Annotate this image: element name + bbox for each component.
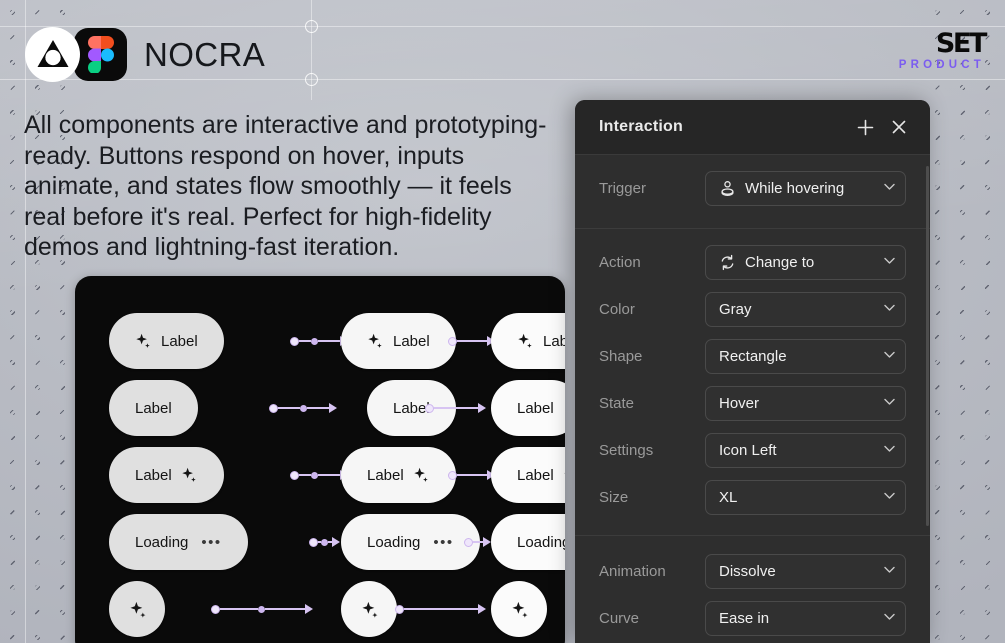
- interaction-panel-header: Interaction: [575, 100, 930, 155]
- partner-logo-primary: SET: [896, 30, 985, 57]
- row-label-state: State: [599, 395, 705, 412]
- connector-node[interactable]: [290, 337, 299, 346]
- sparkle-icon: [181, 467, 198, 484]
- connector-arrow: [332, 537, 340, 547]
- component-row: [75, 580, 565, 638]
- select-size-value: XL: [719, 489, 875, 506]
- close-icon[interactable]: [886, 114, 912, 140]
- button-label: Label: [367, 467, 404, 484]
- row-label-shape: Shape: [599, 348, 705, 365]
- select-shape-value: Rectangle: [719, 348, 875, 365]
- hatch-pattern-left: [0, 0, 75, 643]
- connector-arrow: [483, 537, 491, 547]
- chevron-down-icon: [884, 492, 895, 503]
- connector-node[interactable]: [290, 471, 299, 480]
- trigger-section: Trigger While hovering: [575, 155, 930, 226]
- component-row: Label Label: [75, 446, 565, 504]
- row-settings: Settings Icon Left: [575, 427, 930, 474]
- select-color-value: Gray: [719, 301, 875, 318]
- button-label: Label: [543, 333, 565, 350]
- connector-wire: [299, 340, 311, 342]
- button-icon-left-hover[interactable]: Label: [341, 313, 456, 369]
- button-icon-right-hover[interactable]: Label: [341, 447, 456, 503]
- row-label-action: Action: [599, 254, 705, 271]
- icon-button-hover[interactable]: [341, 581, 397, 637]
- select-settings[interactable]: Icon Left: [705, 433, 906, 468]
- select-settings-value: Icon Left: [719, 442, 875, 459]
- partner-logo: SET PRODUCT: [896, 30, 985, 72]
- grid-guide-vertical: [25, 0, 26, 643]
- button-label: Loading: [135, 534, 188, 551]
- chevron-down-icon: [884, 398, 895, 409]
- select-state[interactable]: Hover: [705, 386, 906, 421]
- hatch-pattern-right: [925, 0, 1005, 643]
- row-label-trigger: Trigger: [599, 180, 705, 197]
- chevron-down-icon: [884, 304, 895, 315]
- chevron-down-icon: [884, 445, 895, 456]
- connector-wire: [318, 474, 340, 476]
- button-loading-default[interactable]: Loading •••: [109, 514, 248, 570]
- chevron-down-icon: [884, 183, 895, 194]
- connector-arrow: [478, 604, 486, 614]
- action-section: Action Change to: [575, 229, 930, 533]
- connector: [425, 401, 486, 415]
- button-label: Loading: [367, 534, 420, 551]
- connector-midpoint[interactable]: [321, 539, 328, 546]
- row-color: Color Gray: [575, 286, 930, 333]
- connector-wire: [265, 608, 305, 610]
- button-label: Label: [161, 333, 198, 350]
- sparkle-icon: [129, 601, 146, 618]
- row-label-settings: Settings: [599, 442, 705, 459]
- select-curve-value: Ease in: [719, 610, 875, 627]
- brand-name: NOCRA: [144, 36, 265, 74]
- select-shape[interactable]: Rectangle: [705, 339, 906, 374]
- connector-midpoint[interactable]: [311, 472, 318, 479]
- brand-block: NOCRA: [25, 27, 265, 82]
- select-color[interactable]: Gray: [705, 292, 906, 327]
- select-state-value: Hover: [719, 395, 875, 412]
- select-trigger-value: While hovering: [745, 180, 875, 197]
- connector-wire: [434, 407, 478, 409]
- chevron-down-icon: [884, 566, 895, 577]
- button-label: Label: [517, 467, 554, 484]
- select-animation-value: Dissolve: [719, 563, 875, 580]
- animation-section: Animation Dissolve Curve Ease in: [575, 536, 930, 643]
- row-action: Action Change to: [575, 239, 930, 286]
- button-label: Loading: [517, 534, 565, 551]
- row-trigger: Trigger While hovering: [575, 165, 930, 212]
- sparkle-icon: [135, 333, 152, 350]
- connector: [464, 535, 491, 549]
- connector-node[interactable]: [425, 404, 434, 413]
- connector-wire: [318, 340, 340, 342]
- button-loading-hover[interactable]: Loading •••: [341, 514, 480, 570]
- sparkle-icon: [563, 467, 565, 484]
- button-label: Label: [135, 467, 172, 484]
- sparkle-icon: [361, 601, 378, 618]
- connector-midpoint[interactable]: [258, 606, 265, 613]
- connector-midpoint[interactable]: [311, 338, 318, 345]
- sparkle-icon: [413, 467, 430, 484]
- connector-node[interactable]: [309, 538, 318, 547]
- button-label: Label: [517, 400, 554, 417]
- connector-wire: [457, 340, 487, 342]
- row-curve: Curve Ease in: [575, 595, 930, 642]
- component-row: Label Label Labe: [75, 379, 565, 437]
- connector-arrow: [305, 604, 313, 614]
- component-row: Label Label: [75, 312, 565, 370]
- ellipsis-icon: •••: [201, 534, 221, 551]
- button-icon-right-default[interactable]: Label: [109, 447, 224, 503]
- sparkle-icon: [367, 333, 384, 350]
- select-size[interactable]: XL: [705, 480, 906, 515]
- partner-logo-secondary: PRODUCT: [896, 60, 985, 72]
- connector-node[interactable]: [395, 605, 404, 614]
- nocra-mark-icon: [25, 27, 80, 82]
- plus-icon[interactable]: [852, 114, 878, 140]
- interaction-panel: Interaction Trigger: [575, 100, 930, 643]
- ellipsis-icon: •••: [433, 534, 453, 551]
- select-curve[interactable]: Ease in: [705, 601, 906, 636]
- chevron-down-icon: [884, 351, 895, 362]
- button-icon-right-pressed[interactable]: Label: [491, 447, 565, 503]
- panel-title: Interaction: [599, 118, 844, 136]
- icon-button-default[interactable]: [109, 581, 165, 637]
- connector-wire: [220, 608, 258, 610]
- connector-wire: [299, 474, 311, 476]
- connector-wire: [404, 608, 478, 610]
- button-label: Label: [135, 400, 172, 417]
- connector: [448, 334, 495, 348]
- row-label-curve: Curve: [599, 610, 705, 627]
- connector: [211, 602, 313, 616]
- button-icon-left-default[interactable]: Label: [109, 313, 224, 369]
- connector-wire: [473, 541, 483, 543]
- row-state: State Hover: [575, 380, 930, 427]
- chevron-down-icon: [884, 613, 895, 624]
- connector: [448, 468, 495, 482]
- figma-logo-icon: [74, 28, 127, 81]
- swap-refresh-icon: [719, 254, 736, 271]
- icon-button-pressed[interactable]: [491, 581, 547, 637]
- select-action[interactable]: Change to: [705, 245, 906, 280]
- connector: [290, 334, 348, 348]
- connector-node[interactable]: [211, 605, 220, 614]
- row-label-animation: Animation: [599, 563, 705, 580]
- connector-node[interactable]: [448, 471, 457, 480]
- chevron-down-icon: [884, 257, 895, 268]
- hover-cursor-icon: [719, 180, 736, 197]
- page-header: NOCRA SET PRODUCT: [0, 0, 1005, 96]
- select-action-value: Change to: [745, 254, 875, 271]
- button-label-default[interactable]: Label: [109, 380, 198, 436]
- connector: [290, 468, 348, 482]
- sparkle-icon: [517, 333, 534, 350]
- row-label-size: Size: [599, 489, 705, 506]
- connector-wire: [457, 474, 487, 476]
- select-animation[interactable]: Dissolve: [705, 554, 906, 589]
- component-row: Loading ••• Loading •••: [75, 513, 565, 571]
- row-size: Size XL: [575, 474, 930, 521]
- row-shape: Shape Rectangle: [575, 333, 930, 380]
- connector-node[interactable]: [448, 337, 457, 346]
- screenshot-root: NOCRA SET PRODUCT All components are int…: [0, 0, 1005, 643]
- row-animation: Animation Dissolve: [575, 548, 930, 595]
- component-preview-card: Label Label: [75, 276, 565, 643]
- connector-node[interactable]: [464, 538, 473, 547]
- button-label: Label: [393, 333, 430, 350]
- row-label-color: Color: [599, 301, 705, 318]
- button-icon-left-pressed[interactable]: Label: [491, 313, 565, 369]
- panel-scrollbar[interactable]: [926, 166, 929, 526]
- connector: [309, 535, 340, 549]
- sparkle-icon: [511, 601, 528, 618]
- connector-arrow: [478, 403, 486, 413]
- button-loading-pressed[interactable]: Loading •••: [491, 514, 565, 570]
- select-trigger[interactable]: While hovering: [705, 171, 906, 206]
- button-label-pressed[interactable]: Label: [491, 380, 565, 436]
- intro-paragraph: All components are interactive and proto…: [24, 110, 554, 263]
- connector: [395, 602, 486, 616]
